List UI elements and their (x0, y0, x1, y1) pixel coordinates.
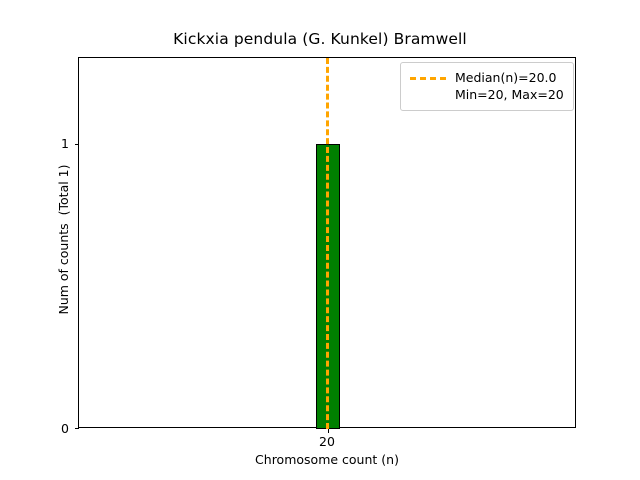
ytick-mark-1 (75, 144, 79, 145)
legend-line-median: Median(n)=20.0 (455, 69, 564, 86)
chart-figure: Kickxia pendula (G. Kunkel) Bramwell 0 1… (0, 0, 640, 480)
ytick-mark-0 (75, 428, 79, 429)
legend-entry-text: Median(n)=20.0 Min=20, Max=20 (455, 69, 564, 103)
plot-area (78, 57, 576, 428)
legend[interactable]: Median(n)=20.0 Min=20, Max=20 (400, 62, 574, 111)
y-axis-label: Num of counts (Total 1) (56, 54, 71, 425)
legend-dashed-line-icon (410, 77, 446, 80)
x-axis-label: Chromosome count (n) (78, 452, 576, 467)
chart-title: Kickxia pendula (G. Kunkel) Bramwell (0, 30, 640, 48)
xtick-label-20: 20 (297, 434, 357, 449)
xtick-mark-20 (328, 429, 329, 433)
legend-line-minmax: Min=20, Max=20 (455, 86, 564, 103)
median-line (326, 58, 329, 429)
